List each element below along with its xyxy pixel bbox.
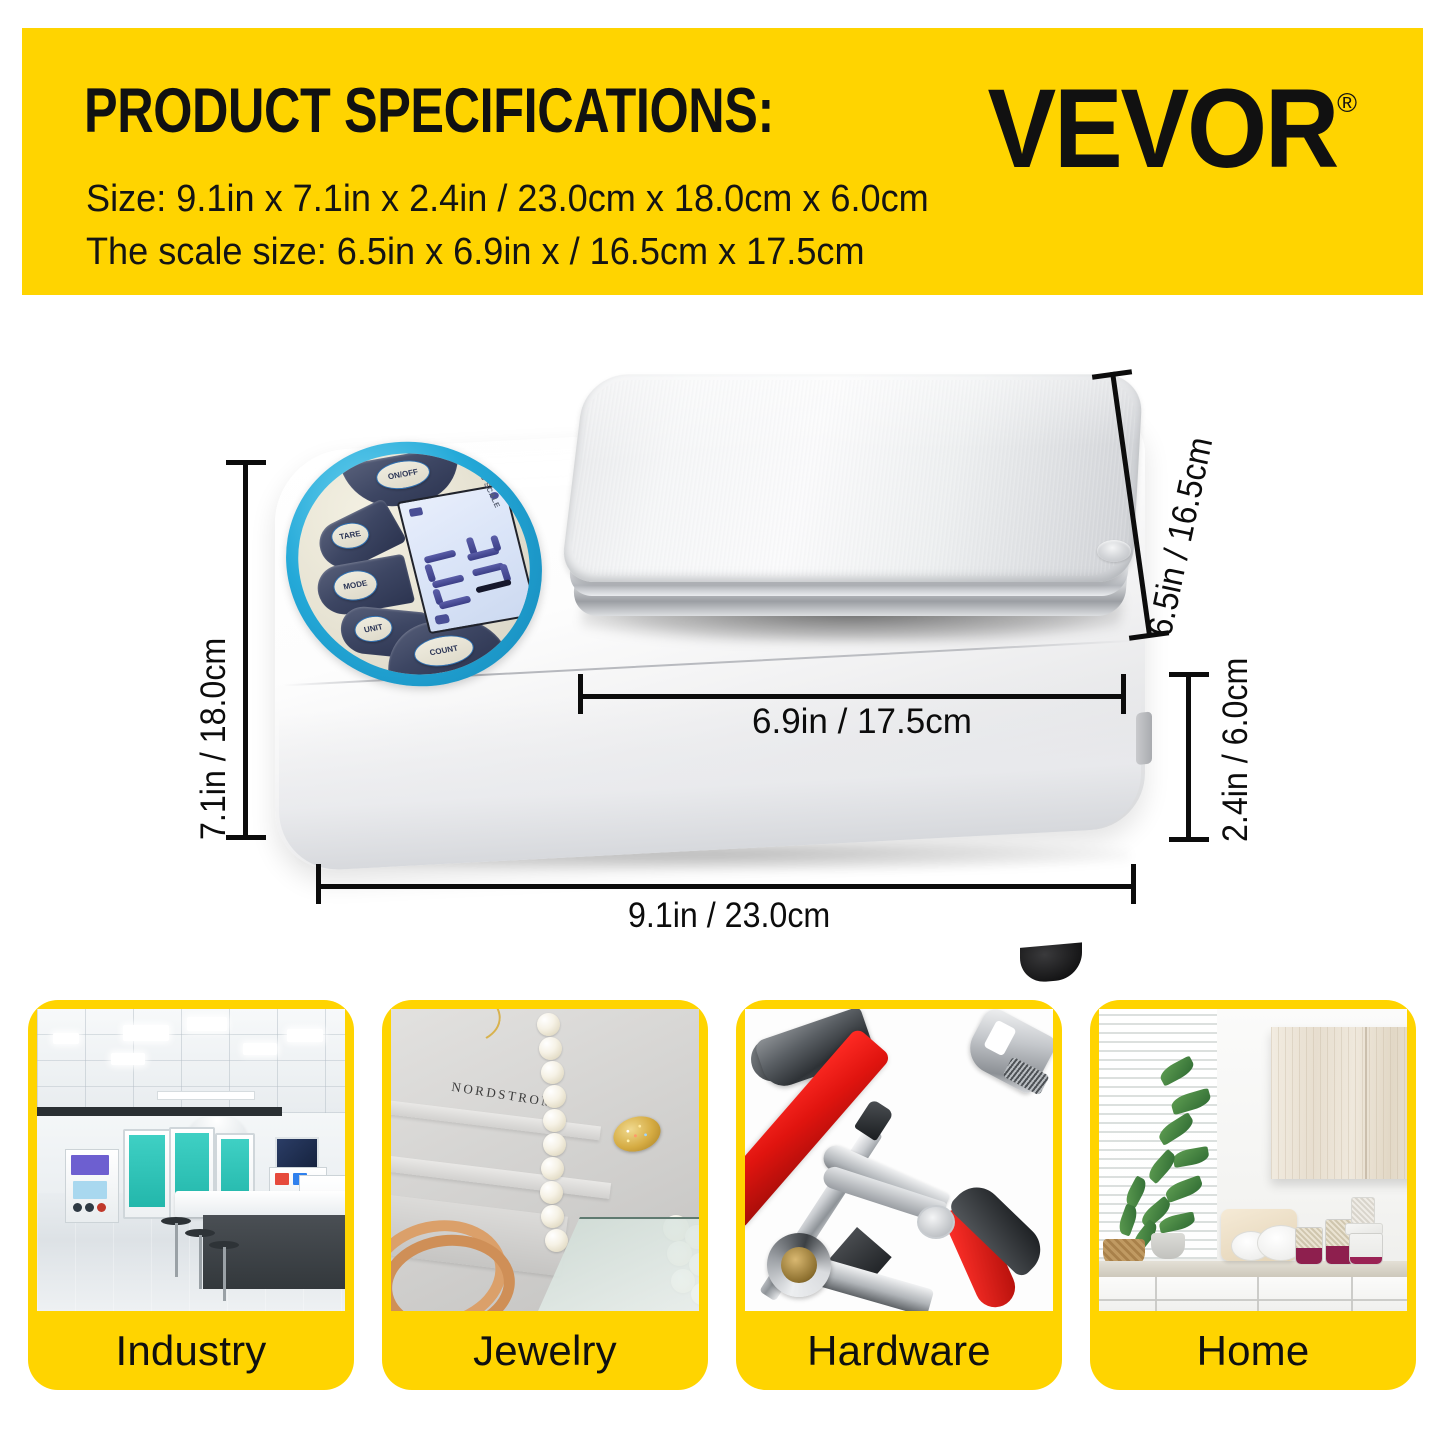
lcd-indicator-stable-icon — [434, 614, 450, 625]
platform-surface — [560, 374, 1143, 582]
application-card-industry[interactable]: Industry — [28, 1000, 354, 1390]
application-cards: Industry NORDSTROM — [0, 1000, 1445, 1400]
home-photo — [1099, 1009, 1407, 1311]
application-label-industry: Industry — [28, 1311, 354, 1390]
platform-screw — [1097, 540, 1131, 562]
platform-width-dimension-label: 6.9in / 17.5cm — [752, 704, 972, 739]
registered-trademark-icon: ® — [1337, 90, 1357, 117]
page-title: PRODUCT SPECIFICATIONS: — [84, 80, 774, 143]
weighing-platform — [560, 368, 1140, 668]
jewelry-brand-text: NORDSTROM — [450, 1079, 556, 1111]
application-label-jewelry: Jewelry — [382, 1311, 708, 1390]
lcd-indicator-unit-icon — [409, 507, 424, 517]
depth-dimension-label: 6.5in / 16.5cm — [1142, 434, 1218, 639]
side-port — [1136, 711, 1152, 765]
application-label-home: Home — [1090, 1311, 1416, 1390]
pliers-pivot — [917, 1205, 955, 1239]
application-label-hardware: Hardware — [736, 1311, 1062, 1390]
application-card-hardware[interactable]: Hardware — [736, 1000, 1062, 1390]
spec-line-scale-size: The scale size: 6.5in x 6.9in x / 16.5cm… — [86, 233, 865, 271]
specifications-banner: PRODUCT SPECIFICATIONS: VEVOR ® Size: 9.… — [22, 28, 1423, 295]
height-dimension-label: 7.1in / 18.0cm — [196, 638, 231, 840]
vevor-logo: VEVOR — [987, 73, 1337, 185]
application-card-jewelry[interactable]: NORDSTROM — [382, 1000, 708, 1390]
jewelry-photo: NORDSTROM — [391, 1009, 699, 1311]
hardware-photo — [745, 1009, 1053, 1311]
industry-photo — [37, 1009, 345, 1311]
lcd-digits — [417, 524, 520, 606]
rubber-foot — [1020, 942, 1082, 983]
width-dimension-label: 9.1in / 23.0cm — [628, 898, 830, 933]
application-card-home[interactable]: Home — [1090, 1000, 1416, 1390]
thickness-dimension-label: 2.4in / 6.0cm — [1218, 658, 1253, 842]
product-hero: ON/OFF TARE MODE UNIT COUNT — [0, 300, 1445, 980]
brushed-metal-texture — [567, 380, 1137, 576]
panel-face: ON/OFF TARE MODE UNIT COUNT — [274, 435, 553, 692]
spec-line-size: Size: 9.1in x 7.1in x 2.4in / 23.0cm x 1… — [86, 180, 929, 218]
